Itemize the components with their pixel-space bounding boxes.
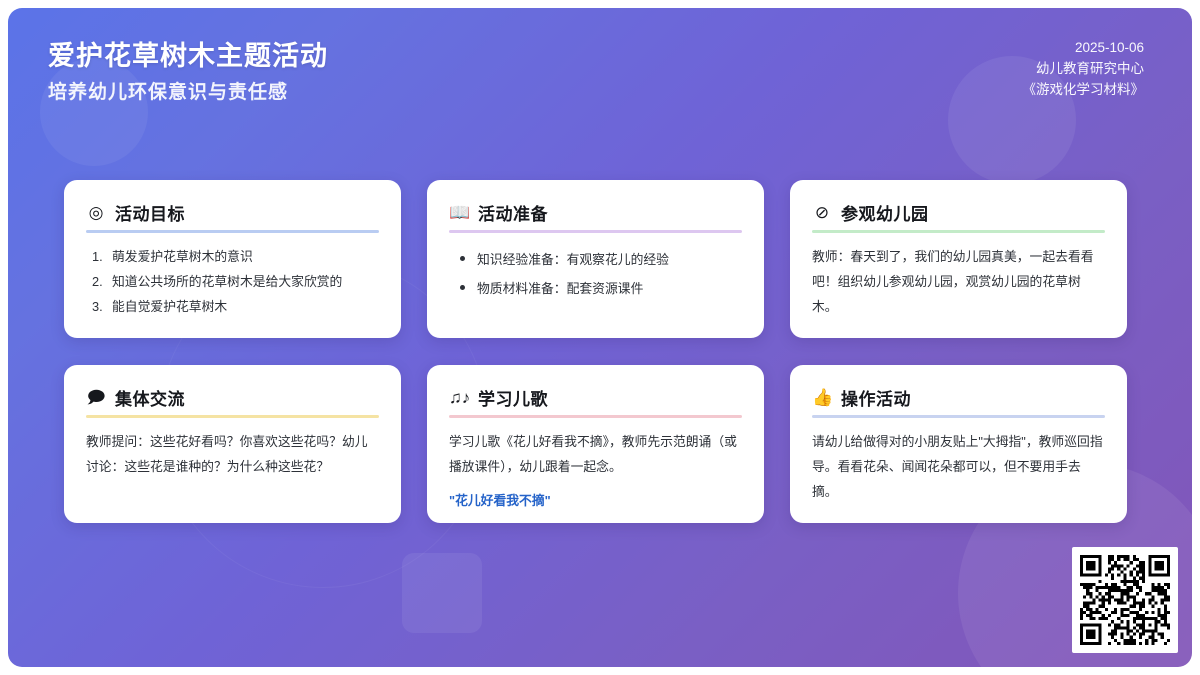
card-rule	[812, 230, 1105, 233]
meta-date: 2025-10-06	[1023, 38, 1145, 59]
slide-root: 爱护花草树木主题活动 培养幼儿环保意识与责任感 2025-10-06 幼儿教育研…	[0, 0, 1200, 675]
qr-code-image	[1080, 555, 1170, 645]
card-title: 活动目标	[115, 200, 185, 225]
card-body: 知识经验准备：有观察花儿的经验 物质材料准备：配套资源课件	[449, 245, 742, 304]
goal-list: 萌发爱护花草树木的意识 知道公共场所的花草树木是给大家欣赏的 能自觉爱护花草树木	[86, 245, 379, 320]
card-title: 操作活动	[841, 385, 911, 410]
card-group-discussion[interactable]: 🗩 集体交流 教师提问：这些花好看吗？你喜欢这些花吗？幼儿讨论：这些花是谁种的？…	[64, 365, 401, 523]
card-body: 教师：春天到了，我们的幼儿园真美，一起去看看吧！组织幼儿参观幼儿园，观赏幼儿园的…	[812, 245, 1105, 320]
card-header: 👍 操作活动	[812, 385, 1105, 410]
card-header: 🗩 集体交流	[86, 385, 379, 410]
card-title: 学习儿歌	[478, 385, 548, 410]
book-icon: 📖	[449, 204, 469, 221]
thumbs-up-icon: 👍	[812, 389, 832, 406]
card-activity-preparation[interactable]: 📖 活动准备 知识经验准备：有观察花儿的经验 物质材料准备：配套资源课件	[427, 180, 764, 338]
card-learn-song[interactable]: ♫♪ 学习儿歌 学习儿歌《花儿好看我不摘》，教师先示范朗诵（或播放课件），幼儿跟…	[427, 365, 764, 523]
card-title: 活动准备	[478, 200, 548, 225]
page-subtitle: 培养幼儿环保意识与责任感	[48, 80, 328, 107]
slide-header: 爱护花草树木主题活动 培养幼儿环保意识与责任感 2025-10-06 幼儿教育研…	[8, 8, 1192, 107]
card-body: 教师提问：这些花好看吗？你喜欢这些花吗？幼儿讨论：这些花是谁种的？为什么种这些花…	[86, 430, 379, 480]
card-grid: ◎ 活动目标 萌发爱护花草树木的意识 知道公共场所的花草树木是给大家欣赏的 能自…	[64, 180, 1148, 523]
card-paragraph: 教师：春天到了，我们的幼儿园真美，一起去看看吧！组织幼儿参观幼儿园，观赏幼儿园的…	[812, 245, 1105, 320]
card-header: 📖 活动准备	[449, 200, 742, 225]
list-item: 知道公共场所的花草树木是给大家欣赏的	[92, 270, 379, 295]
card-body: 萌发爱护花草树木的意识 知道公共场所的花草树木是给大家欣赏的 能自觉爱护花草树木	[86, 245, 379, 320]
page-title: 爱护花草树木主题活动	[48, 38, 328, 74]
meta-organization: 幼儿教育研究中心	[1023, 59, 1145, 80]
music-note-icon: ♫♪	[449, 389, 469, 406]
card-rule	[86, 415, 379, 418]
card-rule	[86, 230, 379, 233]
card-rule	[812, 415, 1105, 418]
header-meta-block: 2025-10-06 幼儿教育研究中心 《游戏化学习材料》	[1023, 38, 1145, 101]
list-item: 物质材料准备：配套资源课件	[457, 274, 742, 303]
header-title-block: 爱护花草树木主题活动 培养幼儿环保意识与责任感	[40, 38, 328, 107]
card-header: ⊘ 参观幼儿园	[812, 200, 1105, 225]
card-paragraph: 请幼儿给做得对的小朋友贴上"大拇指"，教师巡回指导。看看花朵、闻闻花朵都可以，但…	[812, 430, 1105, 505]
card-rule	[449, 230, 742, 233]
slide-canvas: 爱护花草树木主题活动 培养幼儿环保意识与责任感 2025-10-06 幼儿教育研…	[8, 8, 1192, 667]
song-title-link[interactable]: "花儿好看我不摘"	[449, 489, 742, 514]
card-title: 集体交流	[115, 385, 185, 410]
qr-code[interactable]	[1072, 547, 1178, 653]
card-visit-kindergarten[interactable]: ⊘ 参观幼儿园 教师：春天到了，我们的幼儿园真美，一起去看看吧！组织幼儿参观幼儿…	[790, 180, 1127, 338]
list-item: 知识经验准备：有观察花儿的经验	[457, 245, 742, 274]
decorative-rounded-square	[402, 553, 482, 633]
card-activity-goals[interactable]: ◎ 活动目标 萌发爱护花草树木的意识 知道公共场所的花草树木是给大家欣赏的 能自…	[64, 180, 401, 338]
card-body: 请幼儿给做得对的小朋友贴上"大拇指"，教师巡回指导。看看花朵、闻闻花朵都可以，但…	[812, 430, 1105, 505]
speech-bubble-icon: 🗩	[86, 389, 106, 406]
preparation-list: 知识经验准备：有观察花儿的经验 物质材料准备：配套资源课件	[449, 245, 742, 304]
card-hands-on-activity[interactable]: 👍 操作活动 请幼儿给做得对的小朋友贴上"大拇指"，教师巡回指导。看看花朵、闻闻…	[790, 365, 1127, 523]
card-header: ◎ 活动目标	[86, 200, 379, 225]
card-title: 参观幼儿园	[841, 200, 929, 225]
card-paragraph: 学习儿歌《花儿好看我不摘》，教师先示范朗诵（或播放课件），幼儿跟着一起念。	[449, 430, 742, 480]
no-entry-icon: ⊘	[812, 204, 832, 221]
target-icon: ◎	[86, 204, 106, 221]
card-header: ♫♪ 学习儿歌	[449, 385, 742, 410]
card-rule	[449, 415, 742, 418]
meta-source: 《游戏化学习材料》	[1023, 80, 1145, 101]
list-item: 能自觉爱护花草树木	[92, 295, 379, 320]
list-item: 萌发爱护花草树木的意识	[92, 245, 379, 270]
card-body: 学习儿歌《花儿好看我不摘》，教师先示范朗诵（或播放课件），幼儿跟着一起念。 "花…	[449, 430, 742, 514]
card-paragraph: 教师提问：这些花好看吗？你喜欢这些花吗？幼儿讨论：这些花是谁种的？为什么种这些花…	[86, 430, 379, 480]
